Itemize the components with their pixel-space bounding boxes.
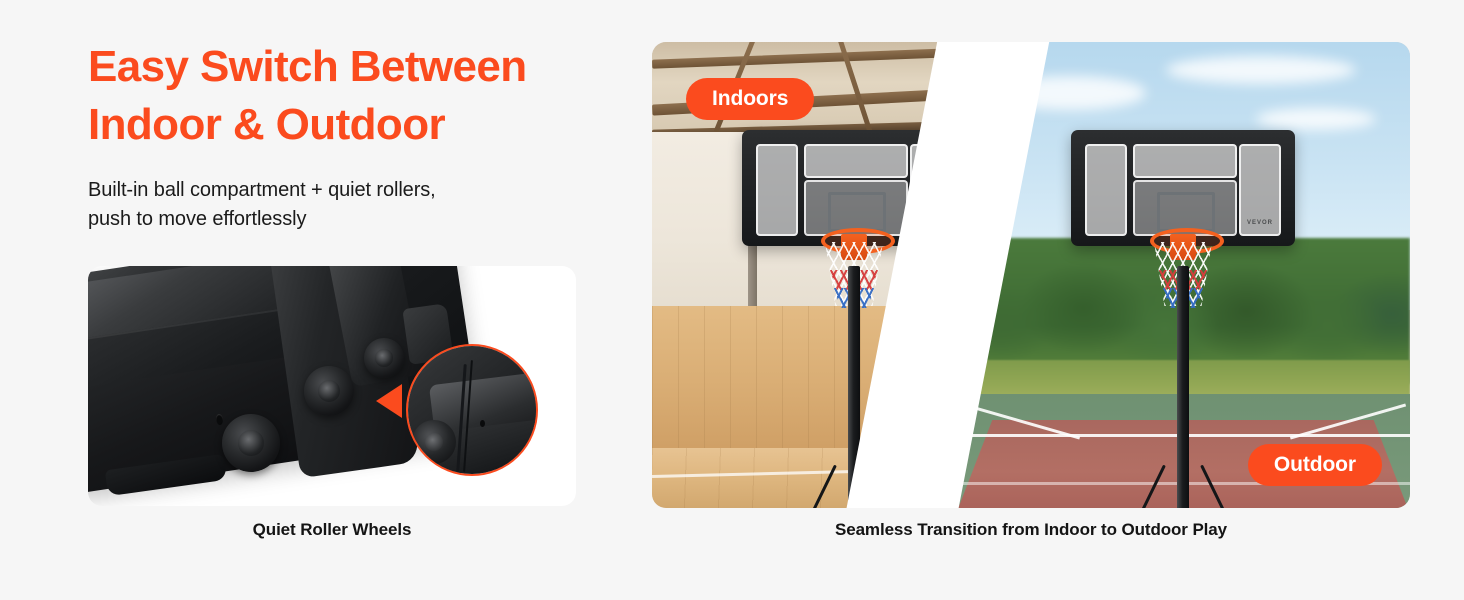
callout-pointer-icon bbox=[376, 384, 402, 418]
product-detail-card bbox=[88, 266, 576, 506]
roller-wheel-icon bbox=[364, 338, 404, 378]
magnifier-callout bbox=[406, 344, 538, 476]
right-content-column: VEVOR bbox=[652, 42, 1410, 542]
badge-indoors: Indoors bbox=[686, 78, 814, 120]
subheadline-line-2: push to move effortlessly bbox=[88, 205, 588, 233]
indoor-outdoor-split-photo: VEVOR bbox=[652, 42, 1410, 508]
support-pole bbox=[1177, 266, 1189, 508]
shooter-square bbox=[1157, 192, 1215, 232]
shooter-square bbox=[828, 192, 886, 232]
left-content-column: Easy Switch Between Indoor & Outdoor Bui… bbox=[88, 38, 588, 558]
support-strut bbox=[1200, 465, 1231, 508]
subheadline: Built-in ball compartment + quiet roller… bbox=[88, 176, 588, 233]
right-caption: Seamless Transition from Indoor to Outdo… bbox=[652, 520, 1410, 540]
headline-line-1: Easy Switch Between bbox=[88, 38, 588, 96]
headline-line-2: Indoor & Outdoor bbox=[88, 96, 588, 154]
subheadline-line-1: Built-in ball compartment + quiet roller… bbox=[88, 176, 588, 204]
roller-wheel-icon bbox=[304, 366, 354, 416]
page-title: Easy Switch Between Indoor & Outdoor bbox=[88, 38, 588, 154]
roller-wheel-zoomed-icon bbox=[412, 420, 456, 464]
roller-wheel-icon bbox=[222, 414, 280, 472]
support-strut bbox=[1135, 465, 1166, 508]
promo-banner: Easy Switch Between Indoor & Outdoor Bui… bbox=[0, 0, 1464, 600]
brand-logo: VEVOR bbox=[1247, 220, 1273, 226]
roller-wheel-photo bbox=[88, 266, 576, 506]
left-caption: Quiet Roller Wheels bbox=[88, 520, 576, 540]
support-strut bbox=[806, 465, 837, 508]
badge-outdoor: Outdoor bbox=[1248, 444, 1382, 486]
